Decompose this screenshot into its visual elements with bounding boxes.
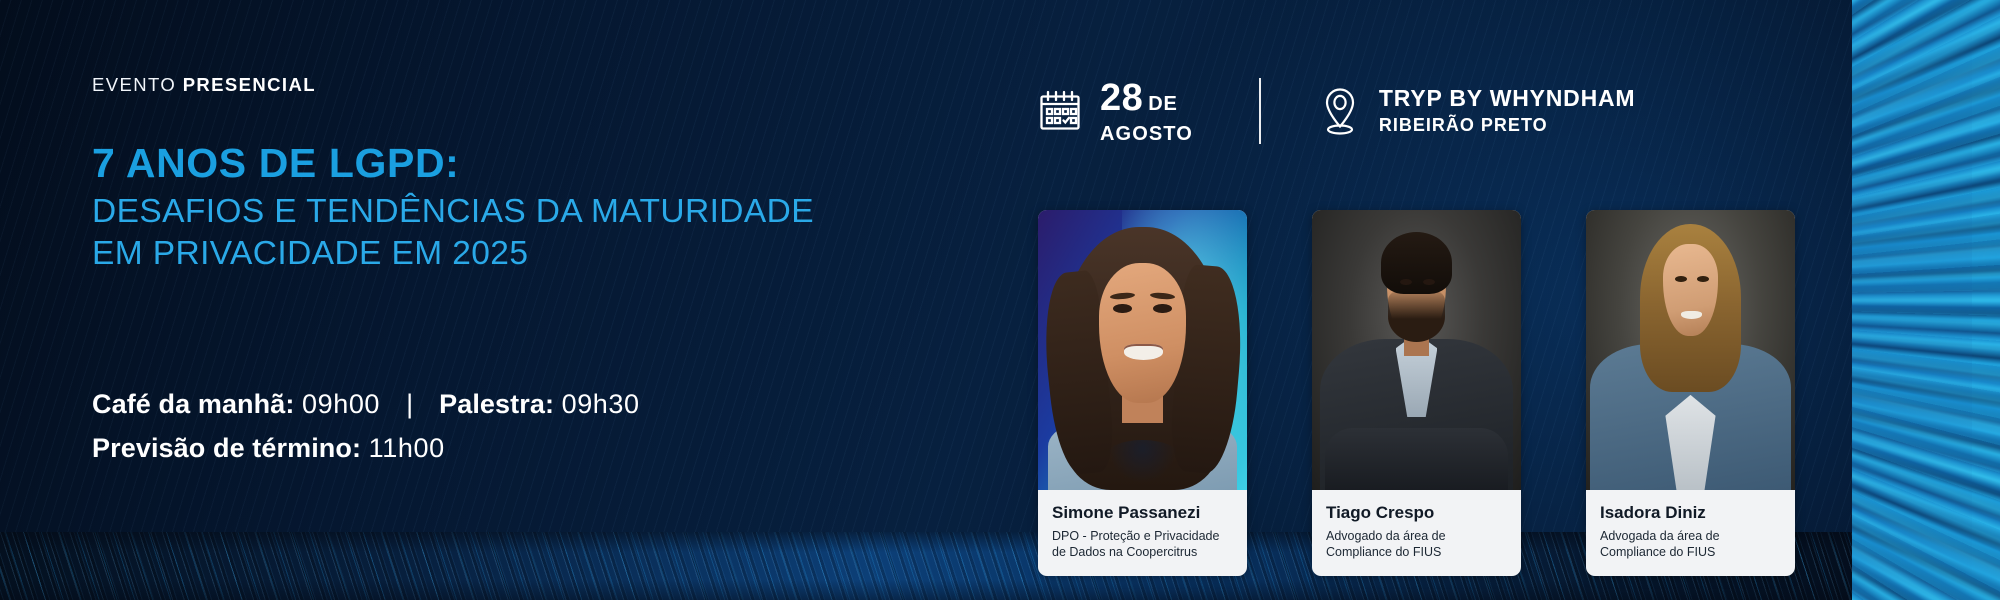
- speaker-role-line-1: Advogado da área de: [1326, 529, 1446, 543]
- schedule-separator: |: [388, 383, 432, 427]
- speaker-name: Tiago Crespo: [1326, 503, 1509, 523]
- eyebrow-label: EVENTO PRESENCIAL: [92, 74, 316, 96]
- date-de: DE: [1148, 93, 1177, 115]
- schedule-row-2: Previsão de término: 11h00: [92, 427, 640, 471]
- schedule-block: Café da manhã: 09h00 | Palestra: 09h30 P…: [92, 383, 640, 470]
- title-line-3: EM PRIVACIDADE EM 2025: [92, 233, 814, 275]
- talk-time: 09h30: [562, 389, 640, 419]
- speaker-cards: Simone Passanezi DPO - Proteção e Privac…: [1038, 210, 1795, 576]
- date-month: AGOSTO: [1100, 124, 1193, 144]
- venue-text: TRYP BY WHYNDHAM RIBEIRÃO PRETO: [1379, 86, 1635, 137]
- speaker-name: Isadora Diniz: [1600, 503, 1783, 523]
- end-label: Previsão de término:: [92, 433, 361, 463]
- map-pin-icon: [1319, 86, 1361, 136]
- schedule-row-1: Café da manhã: 09h00 | Palestra: 09h30: [92, 383, 640, 427]
- speaker-card: Tiago Crespo Advogado da área de Complia…: [1312, 210, 1521, 576]
- breakfast-label: Café da manhã:: [92, 389, 294, 419]
- speaker-role: DPO - Proteção e Privacidade de Dados na…: [1052, 528, 1235, 561]
- event-info-bar: 28DE AGOSTO TRYP BY WHYNDHAM RIBEIRÃO P: [1038, 78, 1635, 144]
- venue-name: TRYP BY WHYNDHAM: [1379, 86, 1635, 112]
- title-line-2: DESAFIOS E TENDÊNCIAS DA MATURIDADE: [92, 191, 814, 233]
- date-text: 28DE AGOSTO: [1100, 79, 1193, 144]
- speaker-name: Simone Passanezi: [1052, 503, 1235, 523]
- speaker-role-line-2: Compliance do FIUS: [1600, 545, 1715, 559]
- speaker-photo-tiago: [1312, 210, 1521, 490]
- breakfast-time: 09h00: [302, 389, 380, 419]
- speaker-role: Advogado da área de Compliance do FIUS: [1326, 528, 1509, 561]
- speaker-role: Advogada da área de Compliance do FIUS: [1600, 528, 1783, 561]
- speaker-photo-isadora: [1586, 210, 1795, 490]
- eyebrow-bold-word: PRESENCIAL: [183, 74, 316, 95]
- event-banner: EVENTO PRESENCIAL 7 ANOS DE LGPD: DESAFI…: [0, 0, 2000, 600]
- end-time: 11h00: [369, 433, 445, 463]
- speaker-role-line-2: de Dados na Coopercitrus: [1052, 545, 1197, 559]
- calendar-icon: [1038, 89, 1082, 133]
- venue-city: RIBEIRÃO PRETO: [1379, 115, 1635, 136]
- speaker-card: Simone Passanezi DPO - Proteção e Privac…: [1038, 210, 1247, 576]
- date-info: 28DE AGOSTO: [1038, 79, 1193, 144]
- venue-info: TRYP BY WHYNDHAM RIBEIRÃO PRETO: [1319, 86, 1635, 137]
- page-title: 7 ANOS DE LGPD: DESAFIOS E TENDÊNCIAS DA…: [92, 143, 814, 275]
- speaker-role-line-1: Advogada da área de: [1600, 529, 1720, 543]
- title-line-1: 7 ANOS DE LGPD:: [92, 143, 814, 185]
- speaker-role-line-2: Compliance do FIUS: [1326, 545, 1441, 559]
- eyebrow-light-word: EVENTO: [92, 74, 176, 95]
- speaker-photo-simone: [1038, 210, 1247, 490]
- talk-label: Palestra:: [439, 389, 554, 419]
- speaker-role-line-1: DPO - Proteção e Privacidade: [1052, 529, 1219, 543]
- vertical-divider: [1259, 78, 1261, 144]
- speaker-card: Isadora Diniz Advogada da área de Compli…: [1586, 210, 1795, 576]
- date-day: 28: [1100, 77, 1143, 119]
